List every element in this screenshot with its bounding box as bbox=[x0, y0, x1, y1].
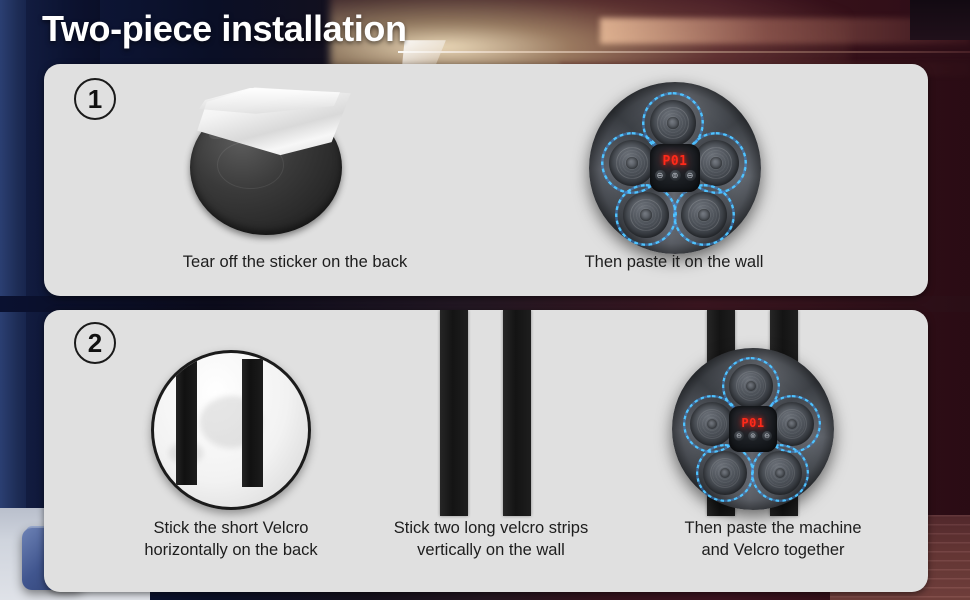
mode-up-button[interactable]: ⊖ bbox=[685, 170, 696, 181]
control-button-row-mounted: ⊖ ⊚ ⊖ bbox=[734, 431, 772, 441]
machine-back-disc bbox=[151, 350, 311, 510]
caption-stick-short-velcro: Stick the short Velcro horizontally on t… bbox=[108, 518, 354, 562]
control-hub[interactable]: P01 ⊖ ⊚ ⊖ bbox=[650, 144, 700, 192]
power-button-mounted[interactable]: ⊚ bbox=[748, 431, 758, 441]
step-1-panel: 1 Tear off the sticker on the back bbox=[44, 64, 928, 296]
control-hub-mounted[interactable]: P01 ⊖ ⊚ ⊖ bbox=[729, 406, 777, 452]
target-pad-bottom-left[interactable] bbox=[623, 192, 669, 238]
caption-stick-long-velcro: Stick two long velcro strips vertically … bbox=[356, 518, 626, 562]
led-display: P01 bbox=[663, 155, 688, 168]
mode-down-button[interactable]: ⊖ bbox=[655, 170, 666, 181]
target-pad-left[interactable] bbox=[609, 140, 655, 186]
caption-paste-machine-and-velcro: Then paste the machine and Velcro togeth… bbox=[644, 518, 902, 562]
caption-paste-on-wall: Then paste it on the wall bbox=[524, 252, 824, 274]
short-velcro-strip-right[interactable] bbox=[242, 359, 263, 487]
target-pad-top-mounted[interactable] bbox=[729, 364, 773, 408]
power-button[interactable]: ⊚ bbox=[670, 170, 681, 181]
step-1-badge: 1 bbox=[74, 78, 116, 120]
mode-up-button-mounted[interactable]: ⊖ bbox=[762, 431, 772, 441]
target-pad-bottom-right-mounted[interactable] bbox=[758, 451, 802, 495]
long-velcro-strip-left[interactable] bbox=[440, 310, 468, 516]
page-title: Two-piece installation bbox=[42, 8, 407, 50]
mode-down-button-mounted[interactable]: ⊖ bbox=[734, 431, 744, 441]
caption-tear-off-sticker: Tear off the sticker on the back bbox=[100, 252, 490, 274]
boxing-machine-body[interactable]: P01 ⊖ ⊚ ⊖ bbox=[589, 82, 761, 254]
target-pad-bottom-right[interactable] bbox=[681, 192, 727, 238]
control-button-row: ⊖ ⊚ ⊖ bbox=[655, 170, 696, 181]
upper-right-dark-band bbox=[910, 0, 970, 40]
target-pad-left-mounted[interactable] bbox=[690, 402, 734, 446]
step-2-badge: 2 bbox=[74, 322, 116, 364]
step-2-panel: 2 Stick the short Velcro horizontally on… bbox=[44, 310, 928, 592]
long-velcro-strip-right[interactable] bbox=[503, 310, 531, 516]
boxing-machine-body-mounted[interactable]: P01 ⊖ ⊚ ⊖ bbox=[672, 348, 834, 510]
target-pad-bottom-left-mounted[interactable] bbox=[703, 451, 747, 495]
short-velcro-strip-left[interactable] bbox=[176, 361, 197, 485]
led-display-mounted: P01 bbox=[741, 417, 764, 429]
target-pad-top[interactable] bbox=[650, 100, 696, 146]
ceiling-edge-line bbox=[398, 51, 970, 53]
